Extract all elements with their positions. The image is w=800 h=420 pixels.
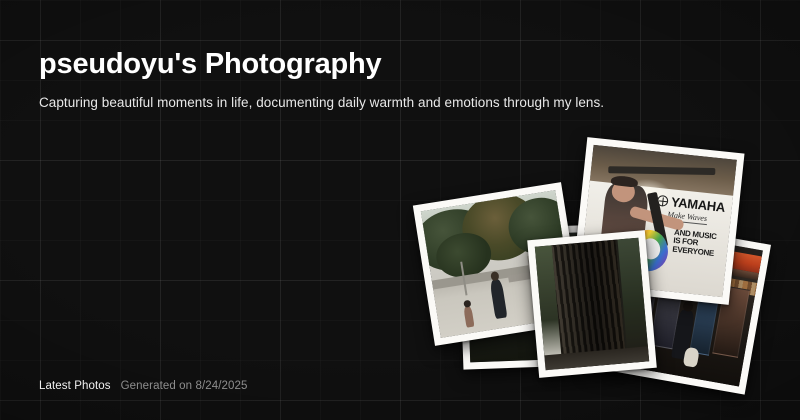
footer: Latest Photos Generated on 8/24/2025 — [39, 380, 248, 392]
footer-generated-date: Generated on 8/24/2025 — [121, 380, 248, 392]
photo-image-tree-trunk — [535, 238, 649, 371]
photography-hero-card: pseudoyu's Photography Capturing beautif… — [0, 0, 800, 420]
photo-frame — [535, 238, 649, 371]
photo-card-tree-trunk — [527, 230, 657, 378]
headline-block: pseudoyu's Photography Capturing beautif… — [39, 48, 769, 110]
page-title: pseudoyu's Photography — [39, 48, 769, 81]
footer-label: Latest Photos — [39, 380, 111, 392]
yamaha-poster-text: AND MUSIC IS FOR EVERYONE — [672, 228, 723, 259]
photo-collage: Duty Free Shop — [415, 135, 775, 380]
page-subtitle: Capturing beautiful moments in life, doc… — [39, 95, 769, 110]
